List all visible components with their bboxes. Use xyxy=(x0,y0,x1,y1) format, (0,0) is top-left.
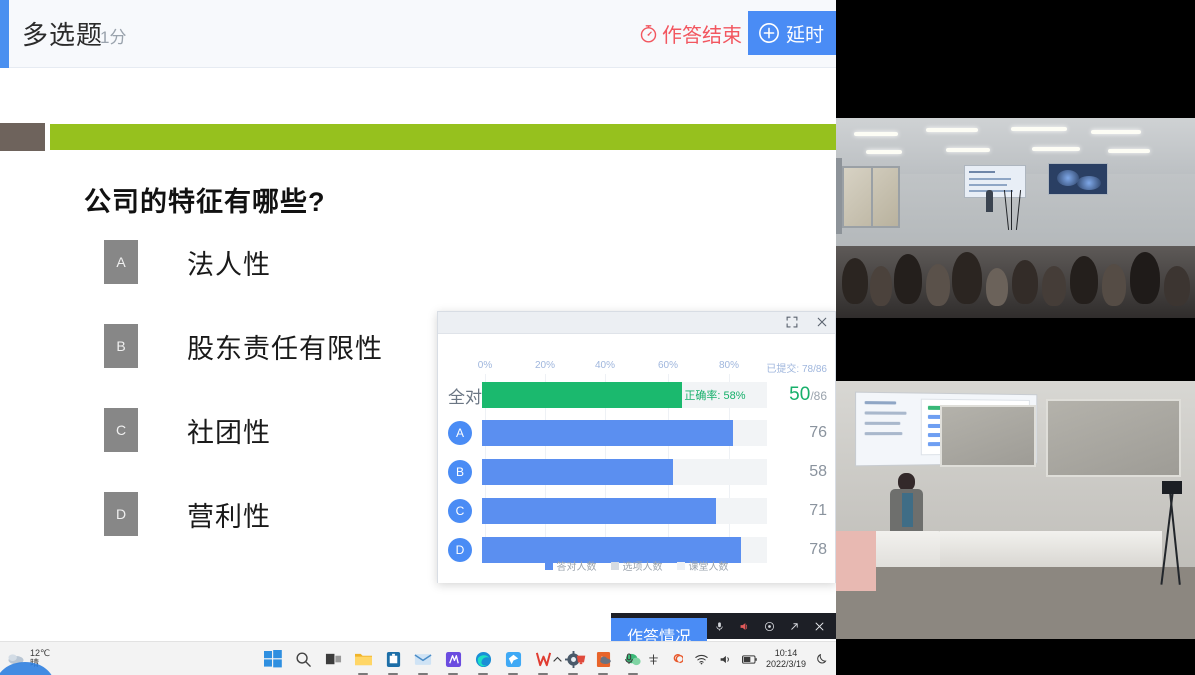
legend-swatch-icon xyxy=(611,562,619,570)
system-tray: 10:14 2022/3/19 xyxy=(550,642,830,675)
antivirus-icon[interactable] xyxy=(574,652,589,667)
chart-row-value-a: 76 xyxy=(809,424,827,442)
windows-taskbar: 12℃ 晴 xyxy=(0,641,836,675)
camera-feed-classroom[interactable] xyxy=(836,0,1195,357)
input-method-icon[interactable] xyxy=(646,652,661,667)
battery-icon[interactable] xyxy=(742,652,757,667)
slide-deco-bar xyxy=(50,124,836,150)
projection-screen-left xyxy=(964,165,1026,198)
whiteboard-left xyxy=(940,405,1036,467)
moon-icon[interactable] xyxy=(815,652,830,667)
chart-window-buttons xyxy=(783,313,831,331)
close-icon[interactable] xyxy=(812,619,826,633)
legend-label: 答对人数 xyxy=(557,558,597,573)
search-icon[interactable] xyxy=(292,648,314,670)
whiteboard-right xyxy=(1046,399,1181,477)
timer-status-label: 作答结束 xyxy=(662,19,742,48)
chart-row-c: C 71 xyxy=(438,496,835,526)
chart-bar-track xyxy=(482,420,767,446)
students-crowd xyxy=(836,246,1195,318)
legend-label: 课堂人数 xyxy=(689,558,729,573)
option-badge-b: B xyxy=(104,324,138,368)
store-icon[interactable] xyxy=(382,648,404,670)
tripod xyxy=(1011,190,1012,230)
submitted-count-label: 已提交: 78/86 xyxy=(766,360,827,375)
legend-label: 选项人数 xyxy=(623,558,663,573)
chart-row-value-d: 78 xyxy=(809,541,827,559)
legend-swatch-icon xyxy=(677,562,685,570)
answer-statistics-panel: 0% 20% 40% 60% 80% 已提交: 78/86 xyxy=(437,311,836,583)
chart-axis-ticks: 0% 20% 40% 60% 80% 已提交: 78/86 xyxy=(438,360,835,374)
clock-time: 10:14 xyxy=(766,648,806,659)
chart-row-a: A 76 xyxy=(438,418,835,448)
edge-icon[interactable] xyxy=(472,648,494,670)
volume-icon[interactable] xyxy=(718,652,733,667)
chart-row-badge-a: A xyxy=(448,421,472,445)
option-row-b: B 股东责任有限性 xyxy=(104,324,383,368)
wifi-icon[interactable] xyxy=(694,652,709,667)
option-text-c: 社团性 xyxy=(187,411,271,450)
window xyxy=(842,166,900,228)
chart-bar-fill-c xyxy=(482,498,716,524)
option-badge-d: D xyxy=(104,492,138,536)
option-badge-a: A xyxy=(104,240,138,284)
question-score-label: 1分 xyxy=(100,23,126,48)
chart-row-label: 全对 xyxy=(448,383,482,408)
shared-screen: 多选题 1分 作答结束 xyxy=(0,0,836,675)
chevron-up-icon[interactable] xyxy=(550,652,565,667)
stopwatch-icon xyxy=(638,23,659,44)
mail-icon[interactable] xyxy=(412,648,434,670)
option-text-b: 股东责任有限性 xyxy=(187,327,383,366)
chart-row-badge-c: C xyxy=(448,499,472,523)
axis-tick: 20% xyxy=(535,360,555,371)
chart-row-value-c: 71 xyxy=(809,502,827,520)
editor-icon[interactable] xyxy=(442,648,464,670)
close-icon xyxy=(816,316,828,328)
axis-tick: 80% xyxy=(719,360,739,371)
option-badge-c: C xyxy=(104,408,138,452)
option-row-c: C 社团性 xyxy=(104,408,271,452)
axis-tick: 40% xyxy=(595,360,615,371)
legend-item: 选项人数 xyxy=(611,558,663,573)
task-view-icon[interactable] xyxy=(322,648,344,670)
option-text-d: 营利性 xyxy=(187,495,271,534)
chart-row-badge-b: B xyxy=(448,460,472,484)
chart-row-value-b: 58 xyxy=(809,463,827,481)
chart-row-all-correct: 全对 正确率: 58% 50/86 xyxy=(438,380,835,410)
question-header: 多选题 1分 作答结束 xyxy=(0,0,836,68)
fullscreen-icon xyxy=(786,316,798,328)
close-panel-button[interactable] xyxy=(813,313,831,331)
chart-bar-track xyxy=(482,459,767,485)
windows-start-icon[interactable] xyxy=(262,648,284,670)
chart-row-value-all: 50/86 xyxy=(789,384,827,406)
app-root: 多选题 1分 作答结束 xyxy=(0,0,1195,675)
chart-titlebar xyxy=(438,312,835,334)
taskbar-clock[interactable]: 10:14 2022/3/19 xyxy=(766,648,806,671)
chart-bar-fill-b xyxy=(482,459,673,485)
fullscreen-button[interactable] xyxy=(783,313,801,331)
sogou-icon[interactable] xyxy=(670,652,685,667)
legend-item: 答对人数 xyxy=(545,558,597,573)
camera-panel xyxy=(836,0,1195,675)
chart-row-value-total: /86 xyxy=(810,389,827,403)
speaker-icon[interactable] xyxy=(737,619,751,633)
record-icon[interactable] xyxy=(762,619,776,633)
slide-deco-block xyxy=(0,123,45,151)
chart-bar-track: 正确率: 58% xyxy=(482,382,767,408)
extend-time-label: 延时 xyxy=(786,20,824,47)
legend-swatch-icon xyxy=(545,562,553,570)
mic-icon[interactable] xyxy=(622,652,637,667)
chart-row-b: B 58 xyxy=(438,457,835,487)
chart-bar-fill-a xyxy=(482,420,733,446)
classroom-scene xyxy=(836,118,1195,318)
timer-status: 作答结束 xyxy=(638,19,742,48)
browser-icon[interactable] xyxy=(502,648,524,670)
lecturer-scene xyxy=(836,381,1195,639)
slide-question-title: 公司的特征有哪些? xyxy=(84,180,326,219)
option-row-d: D 营利性 xyxy=(104,492,271,536)
accuracy-annotation: 正确率: 58% xyxy=(684,387,745,403)
header-accent-bar xyxy=(0,0,9,68)
question-type-label: 多选题 xyxy=(22,15,103,52)
option-row-a: A 法人性 xyxy=(104,240,271,284)
lecturer-figure xyxy=(986,190,993,212)
camera-feed-lecturer[interactable] xyxy=(836,357,1195,675)
share-icon[interactable] xyxy=(787,619,801,633)
header-actions: 作答结束 延时 xyxy=(638,10,836,56)
projection-screen-right xyxy=(1048,163,1108,195)
extend-time-button[interactable]: 延时 xyxy=(748,11,836,55)
cloud-sync-icon[interactable] xyxy=(598,652,613,667)
chart-legend: 答对人数 选项人数 课堂人数 xyxy=(438,558,835,573)
chart-bar-fill-correct xyxy=(482,382,682,408)
chart-bar-track xyxy=(482,498,767,524)
microphone-icon[interactable] xyxy=(712,619,726,633)
clock-date: 2022/3/19 xyxy=(766,659,806,670)
option-text-a: 法人性 xyxy=(187,243,271,282)
plus-circle-icon xyxy=(758,22,780,44)
axis-tick: 60% xyxy=(658,360,678,371)
axis-tick: 0% xyxy=(478,360,492,371)
file-explorer-icon[interactable] xyxy=(352,648,374,670)
chart-body: 0% 20% 40% 60% 80% 已提交: 78/86 xyxy=(438,334,835,583)
legend-item: 课堂人数 xyxy=(677,558,729,573)
chart-row-value-number: 50 xyxy=(789,384,810,405)
